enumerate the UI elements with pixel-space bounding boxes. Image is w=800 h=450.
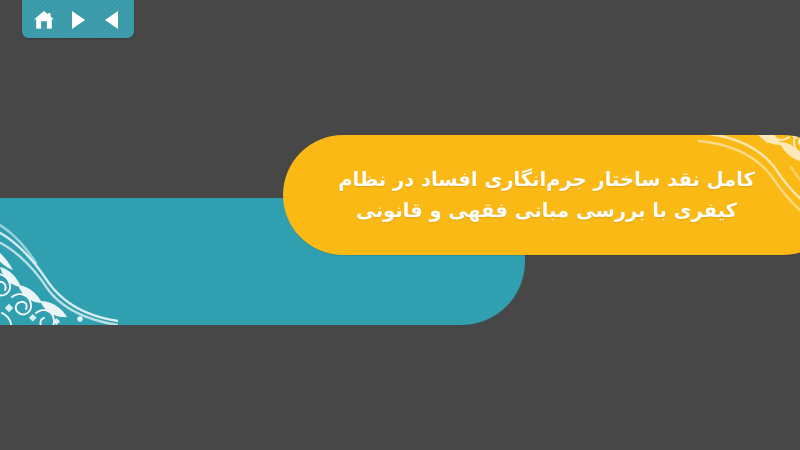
arabesque-corner-ornament — [0, 198, 118, 325]
triangle-right-icon — [70, 11, 86, 29]
slide-title-line-2: کیفری با بررسی مبانی فقهی و قانونی — [356, 196, 737, 227]
forward-button[interactable] — [65, 8, 91, 32]
back-button[interactable] — [99, 8, 125, 32]
triangle-left-icon — [104, 11, 120, 29]
slide-title: کامل نقد ساختار جرم‌انگاری افساد در نظام… — [283, 150, 800, 242]
home-button[interactable] — [31, 8, 57, 32]
slide-title-line-1: کامل نقد ساختار جرم‌انگاری افساد در نظام — [338, 165, 755, 196]
navigation-bar — [22, 0, 134, 38]
presentation-slide: کامل نقد ساختار جرم‌انگاری افساد در نظام… — [0, 0, 800, 450]
home-icon — [33, 10, 55, 30]
